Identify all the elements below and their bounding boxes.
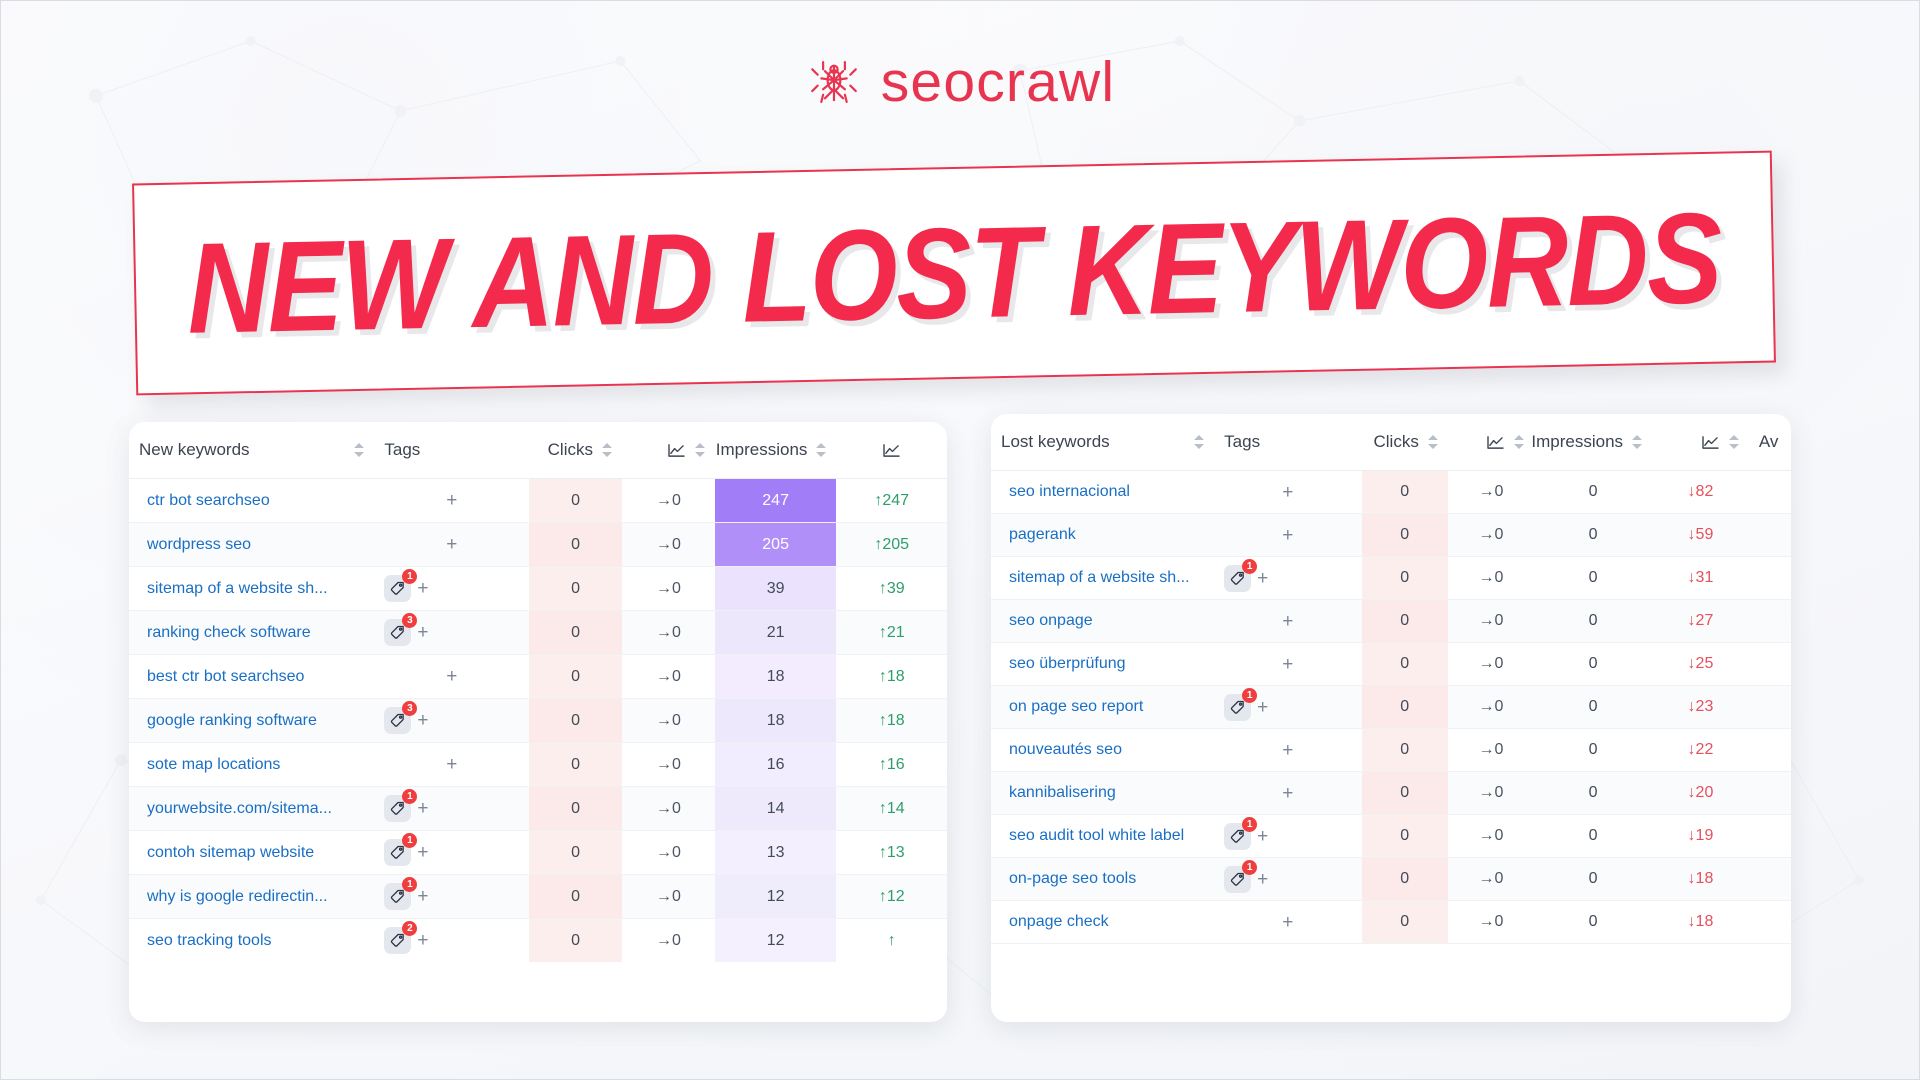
table-row[interactable]: sitemap of a website sh...1+0→039↑39 <box>129 567 947 611</box>
keyword-link[interactable]: yourwebsite.com/sitema... <box>129 787 374 831</box>
impressions-value: 0 <box>1534 514 1652 557</box>
th-lost-next-label: Av <box>1759 432 1779 452</box>
spider-icon <box>805 53 863 111</box>
add-tag-icon[interactable]: + <box>1282 741 1293 760</box>
tag-count-badge: 1 <box>1242 860 1257 875</box>
impressions-heat-cell: 39 <box>715 567 837 610</box>
table-row[interactable]: seo onpage+0→00↓27 <box>991 600 1791 643</box>
tags-cell[interactable]: + <box>374 523 529 567</box>
impressions-delta-value: ↑14 <box>836 787 947 831</box>
clicks-value: 0 <box>1362 729 1448 772</box>
table-row[interactable]: ranking check software3+0→021↑21 <box>129 611 947 655</box>
line-chart-icon <box>882 443 901 458</box>
table-row[interactable]: on page seo report1+0→00↓23 <box>991 686 1791 729</box>
clicks-trend-value: →0 <box>1448 600 1534 643</box>
new-keywords-table-head: New keywords Tags Clicks <box>129 422 947 479</box>
tags-cell[interactable]: 1+ <box>1214 815 1361 858</box>
impressions-value: 18 <box>715 655 837 699</box>
poster-page: seocrawl NEW AND LOST KEYWORDS New keywo… <box>0 0 1920 1080</box>
add-tag-icon[interactable]: + <box>1282 526 1293 545</box>
tag-icon[interactable]: 2 <box>384 927 411 954</box>
th-new-impressions-label: Impressions <box>716 440 808 460</box>
tags-cell[interactable]: 1+ <box>374 875 529 919</box>
impressions-heat-cell: 18 <box>715 655 837 698</box>
add-tag-icon[interactable]: + <box>1282 784 1293 803</box>
lost-keywords-card: Lost keywords Tags Clicks <box>991 414 1791 1022</box>
clicks-value: 0 <box>529 875 622 919</box>
keyword-link[interactable]: seo internacional <box>991 471 1214 514</box>
keyword-link[interactable]: seo überprüfung <box>991 643 1214 686</box>
impressions-value: 0 <box>1534 815 1652 858</box>
th-new-keyword-label: New keywords <box>139 440 250 460</box>
new-keywords-card: New keywords Tags Clicks <box>129 422 947 1022</box>
clicks-trend-value: →0 <box>622 787 715 831</box>
impressions-value: 0 <box>1534 557 1652 600</box>
keyword-link[interactable]: why is google redirectin... <box>129 875 374 919</box>
tags-cell[interactable]: + <box>1214 514 1361 557</box>
impressions-delta-value: ↑18 <box>836 655 947 699</box>
tag-count-badge: 1 <box>1242 688 1257 703</box>
keyword-link[interactable]: wordpress seo <box>129 523 374 567</box>
keyword-link[interactable]: nouveautés seo <box>991 729 1214 772</box>
tag-count-badge: 2 <box>402 921 417 936</box>
next-column-cell <box>1749 643 1791 686</box>
keyword-link[interactable]: on-page seo tools <box>991 858 1214 901</box>
tag-icon[interactable]: 1 <box>384 883 411 910</box>
clicks-trend-value: →0 <box>622 699 715 743</box>
clicks-value: 0 <box>529 611 622 655</box>
clicks-trend-value: →0 <box>1448 557 1534 600</box>
sort-icon[interactable] <box>1514 434 1524 450</box>
tag-icon[interactable]: 3 <box>384 707 411 734</box>
new-keywords-table: New keywords Tags Clicks <box>129 422 947 962</box>
clicks-trend-value: →0 <box>1448 514 1534 557</box>
table-row[interactable]: seo internacional+0→00↓82 <box>991 471 1791 514</box>
next-column-cell <box>1749 514 1791 557</box>
impressions-heat-cell: 16 <box>715 743 837 786</box>
impressions-value: 0 <box>1534 600 1652 643</box>
table-row[interactable]: wordpress seo+0→0205↑205 <box>129 523 947 567</box>
clicks-value: 0 <box>1362 901 1448 944</box>
clicks-value: 0 <box>529 523 622 567</box>
sort-icon[interactable] <box>695 442 705 458</box>
tag-icon[interactable]: 3 <box>384 619 411 646</box>
tag-count-badge: 1 <box>402 833 417 848</box>
tags-cell[interactable]: 1+ <box>374 567 529 611</box>
lost-keywords-table: Lost keywords Tags Clicks <box>991 414 1791 944</box>
th-lost-clicks[interactable]: Clicks <box>1362 414 1448 471</box>
impressions-delta-value: ↓18 <box>1652 858 1749 901</box>
impressions-delta-value: ↑ <box>836 919 947 963</box>
table-row[interactable]: sitemap of a website sh...1+0→00↓31 <box>991 557 1791 600</box>
th-lost-tags[interactable]: Tags <box>1214 414 1361 471</box>
th-lost-next[interactable]: Av <box>1749 414 1791 471</box>
clicks-trend-value: →0 <box>622 875 715 919</box>
impressions-delta-value: ↑18 <box>836 699 947 743</box>
clicks-value: 0 <box>529 919 622 963</box>
tags-cell[interactable]: 2+ <box>374 919 529 963</box>
tag-icon[interactable]: 1 <box>1224 694 1251 721</box>
tag-count-badge: 3 <box>402 613 417 628</box>
line-chart-icon <box>667 443 686 458</box>
impressions-value: 0 <box>1534 471 1652 514</box>
add-tag-icon[interactable]: + <box>446 491 457 510</box>
table-row[interactable]: seo tracking tools2+0→012↑ <box>129 919 947 963</box>
keyword-link[interactable]: on page seo report <box>991 686 1214 729</box>
add-tag-icon[interactable]: + <box>417 931 428 950</box>
add-tag-icon[interactable]: + <box>417 579 428 598</box>
impressions-heat-cell: 205 <box>715 523 837 566</box>
add-tag-icon[interactable]: + <box>1282 612 1293 631</box>
tags-cell[interactable]: 1+ <box>1214 858 1361 901</box>
sort-icon[interactable] <box>1194 434 1204 450</box>
tags-cell[interactable]: + <box>374 479 529 523</box>
tag-icon[interactable]: 1 <box>1224 823 1251 850</box>
clicks-value: 0 <box>1362 600 1448 643</box>
add-tag-icon[interactable]: + <box>446 535 457 554</box>
clicks-trend-value: →0 <box>1448 772 1534 815</box>
tag-count-badge: 1 <box>402 569 417 584</box>
table-row[interactable]: pagerank+0→00↓59 <box>991 514 1791 557</box>
brand-logo: seocrawl <box>1 53 1919 111</box>
clicks-trend-value: →0 <box>622 479 715 523</box>
next-column-cell <box>1749 729 1791 772</box>
keyword-link[interactable]: sitemap of a website sh... <box>129 567 374 611</box>
table-row[interactable]: nouveautés seo+0→00↓22 <box>991 729 1791 772</box>
clicks-value: 0 <box>1362 686 1448 729</box>
impressions-delta-value: ↓27 <box>1652 600 1749 643</box>
impressions-delta-value: ↓82 <box>1652 471 1749 514</box>
th-new-tags[interactable]: Tags <box>374 422 529 479</box>
sort-icon[interactable] <box>1632 434 1642 450</box>
th-new-clicks[interactable]: Clicks <box>529 422 622 479</box>
th-lost-impressions[interactable]: Impressions <box>1534 414 1652 471</box>
table-row[interactable]: on-page seo tools1+0→00↓18 <box>991 858 1791 901</box>
clicks-value: 0 <box>529 787 622 831</box>
impressions-value: 39 <box>715 567 837 611</box>
impressions-value: 0 <box>1534 858 1652 901</box>
keyword-link[interactable]: seo onpage <box>991 600 1214 643</box>
table-row[interactable]: seo audit tool white label1+0→00↓19 <box>991 815 1791 858</box>
th-lost-tags-label: Tags <box>1224 432 1260 452</box>
tags-cell[interactable]: 3+ <box>374 699 529 743</box>
clicks-trend-value: →0 <box>622 567 715 611</box>
sort-icon[interactable] <box>816 442 826 458</box>
next-column-cell <box>1749 471 1791 514</box>
impressions-delta-value: ↑247 <box>836 479 947 523</box>
add-tag-icon[interactable]: + <box>446 667 457 686</box>
keyword-link[interactable]: seo audit tool white label <box>991 815 1214 858</box>
th-new-keyword[interactable]: New keywords <box>129 422 374 479</box>
impressions-delta-value: ↓19 <box>1652 815 1749 858</box>
add-tag-icon[interactable]: + <box>1257 569 1268 588</box>
table-row[interactable]: best ctr bot searchseo+0→018↑18 <box>129 655 947 699</box>
tags-cell[interactable]: + <box>374 655 529 699</box>
new-keywords-table-body: ctr bot searchseo+0→0247↑247wordpress se… <box>129 479 947 963</box>
impressions-delta-value: ↑205 <box>836 523 947 567</box>
tag-icon[interactable]: 1 <box>384 575 411 602</box>
clicks-value: 0 <box>1362 557 1448 600</box>
th-new-tags-label: Tags <box>384 440 420 460</box>
th-lost-keyword[interactable]: Lost keywords <box>991 414 1214 471</box>
tags-cell[interactable]: + <box>1214 772 1361 815</box>
impressions-value: 0 <box>1534 686 1652 729</box>
impressions-delta-value: ↓59 <box>1652 514 1749 557</box>
keyword-link[interactable]: kannibalisering <box>991 772 1214 815</box>
add-tag-icon[interactable]: + <box>417 799 428 818</box>
tags-cell[interactable]: 1+ <box>1214 686 1361 729</box>
tags-cell[interactable]: + <box>1214 729 1361 772</box>
tag-count-badge: 1 <box>402 789 417 804</box>
impressions-delta-value: ↑16 <box>836 743 947 787</box>
tags-cell[interactable]: + <box>1214 643 1361 686</box>
tag-icon[interactable]: 1 <box>1224 565 1251 592</box>
clicks-trend-value: →0 <box>622 655 715 699</box>
clicks-trend-value: →0 <box>622 743 715 787</box>
th-lost-impressions-trend[interactable] <box>1652 414 1749 471</box>
th-new-clicks-trend[interactable] <box>622 422 715 479</box>
clicks-value: 0 <box>1362 643 1448 686</box>
line-chart-icon <box>1701 435 1720 450</box>
lost-keywords-table-body: seo internacional+0→00↓82pagerank+0→00↓5… <box>991 471 1791 944</box>
clicks-value: 0 <box>1362 471 1448 514</box>
sort-icon[interactable] <box>354 442 364 458</box>
clicks-value: 0 <box>529 831 622 875</box>
add-tag-icon[interactable]: + <box>1282 913 1293 932</box>
add-tag-icon[interactable]: + <box>1257 698 1268 717</box>
clicks-trend-value: →0 <box>1448 643 1534 686</box>
lost-keywords-table-head: Lost keywords Tags Clicks <box>991 414 1791 471</box>
table-row[interactable]: kannibalisering+0→00↓20 <box>991 772 1791 815</box>
impressions-value: 12 <box>715 919 837 963</box>
impressions-value: 18 <box>715 699 837 743</box>
tag-icon[interactable]: 1 <box>384 795 411 822</box>
tag-count-badge: 1 <box>1242 559 1257 574</box>
add-tag-icon[interactable]: + <box>417 711 428 730</box>
keyword-link[interactable]: sitemap of a website sh... <box>991 557 1214 600</box>
table-row[interactable]: onpage check+0→00↓18 <box>991 901 1791 944</box>
table-row[interactable]: sote map locations+0→016↑16 <box>129 743 947 787</box>
clicks-trend-value: →0 <box>1448 858 1534 901</box>
clicks-trend-value: →0 <box>1448 686 1534 729</box>
impressions-value: 14 <box>715 787 837 831</box>
sort-icon[interactable] <box>1729 434 1739 450</box>
clicks-trend-value: →0 <box>622 831 715 875</box>
tags-cell[interactable]: 1+ <box>374 787 529 831</box>
keyword-link[interactable]: ctr bot searchseo <box>129 479 374 523</box>
keyword-link[interactable]: contoh sitemap website <box>129 831 374 875</box>
th-lost-keyword-label: Lost keywords <box>1001 432 1110 452</box>
next-column-cell <box>1749 557 1791 600</box>
tag-icon[interactable]: 1 <box>384 839 411 866</box>
impressions-heat-cell: 18 <box>715 699 837 742</box>
sort-icon[interactable] <box>1428 434 1438 450</box>
tag-icon[interactable]: 1 <box>1224 866 1251 893</box>
tag-count-badge: 1 <box>402 877 417 892</box>
th-lost-clicks-trend[interactable] <box>1448 414 1534 471</box>
brand-name: seocrawl <box>881 54 1116 111</box>
impressions-heat-cell: 13 <box>715 831 837 874</box>
impressions-delta-value: ↑39 <box>836 567 947 611</box>
impressions-value: 16 <box>715 743 837 787</box>
impressions-value: 13 <box>715 831 837 875</box>
impressions-value: 0 <box>1534 729 1652 772</box>
clicks-value: 0 <box>529 655 622 699</box>
tag-count-badge: 1 <box>1242 817 1257 832</box>
keyword-link[interactable]: ranking check software <box>129 611 374 655</box>
tags-cell[interactable]: + <box>1214 901 1361 944</box>
impressions-value: 0 <box>1534 772 1652 815</box>
keyword-link[interactable]: onpage check <box>991 901 1214 944</box>
line-chart-icon <box>1486 435 1505 450</box>
tags-cell[interactable]: + <box>374 743 529 787</box>
add-tag-icon[interactable]: + <box>446 755 457 774</box>
add-tag-icon[interactable]: + <box>417 623 428 642</box>
banner-title: NEW AND LOST KEYWORDS <box>186 184 1722 363</box>
impressions-delta-value: ↓23 <box>1652 686 1749 729</box>
impressions-delta-value: ↑12 <box>836 875 947 919</box>
table-row[interactable]: why is google redirectin...1+0→012↑12 <box>129 875 947 919</box>
clicks-trend-value: →0 <box>1448 471 1534 514</box>
keyword-link[interactable]: seo tracking tools <box>129 919 374 963</box>
next-column-cell <box>1749 901 1791 944</box>
clicks-value: 0 <box>529 479 622 523</box>
clicks-value: 0 <box>529 743 622 787</box>
impressions-delta-value: ↓18 <box>1652 901 1749 944</box>
next-column-cell <box>1749 772 1791 815</box>
table-row[interactable]: yourwebsite.com/sitema...1+0→014↑14 <box>129 787 947 831</box>
th-new-impressions-trend[interactable] <box>836 422 947 479</box>
impressions-delta-value: ↑13 <box>836 831 947 875</box>
table-row[interactable]: ctr bot searchseo+0→0247↑247 <box>129 479 947 523</box>
impressions-delta-value: ↓20 <box>1652 772 1749 815</box>
keyword-link[interactable]: best ctr bot searchseo <box>129 655 374 699</box>
impressions-delta-value: ↑21 <box>836 611 947 655</box>
table-row[interactable]: google ranking software3+0→018↑18 <box>129 699 947 743</box>
sort-icon[interactable] <box>602 442 612 458</box>
next-column-cell <box>1749 686 1791 729</box>
table-row[interactable]: contoh sitemap website1+0→013↑13 <box>129 831 947 875</box>
impressions-value: 205 <box>715 523 837 567</box>
th-new-clicks-label: Clicks <box>548 440 593 460</box>
th-lost-impressions-label: Impressions <box>1531 432 1623 452</box>
impressions-delta-value: ↓25 <box>1652 643 1749 686</box>
impressions-heat-cell: 12 <box>715 875 837 918</box>
add-tag-icon[interactable]: + <box>1282 483 1293 502</box>
tag-count-badge: 3 <box>402 701 417 716</box>
th-new-impressions[interactable]: Impressions <box>715 422 837 479</box>
clicks-trend-value: →0 <box>1448 729 1534 772</box>
impressions-heat-cell: 12 <box>715 919 837 962</box>
clicks-value: 0 <box>1362 514 1448 557</box>
add-tag-icon[interactable]: + <box>1257 870 1268 889</box>
keyword-link[interactable]: google ranking software <box>129 699 374 743</box>
add-tag-icon[interactable]: + <box>417 843 428 862</box>
clicks-trend-value: →0 <box>622 523 715 567</box>
tags-cell[interactable]: 3+ <box>374 611 529 655</box>
tags-cell[interactable]: + <box>1214 600 1361 643</box>
add-tag-icon[interactable]: + <box>417 887 428 906</box>
next-column-cell <box>1749 858 1791 901</box>
clicks-trend-value: →0 <box>622 919 715 963</box>
impressions-value: 12 <box>715 875 837 919</box>
clicks-value: 0 <box>1362 815 1448 858</box>
clicks-value: 0 <box>529 699 622 743</box>
keyword-link[interactable]: pagerank <box>991 514 1214 557</box>
impressions-heat-cell: 247 <box>715 479 837 522</box>
clicks-trend-value: →0 <box>622 611 715 655</box>
next-column-cell <box>1749 600 1791 643</box>
clicks-trend-value: →0 <box>1448 901 1534 944</box>
keyword-link[interactable]: sote map locations <box>129 743 374 787</box>
th-lost-clicks-label: Clicks <box>1373 432 1418 452</box>
clicks-value: 0 <box>1362 772 1448 815</box>
impressions-value: 247 <box>715 479 837 523</box>
tags-cell[interactable]: + <box>1214 471 1361 514</box>
table-row[interactable]: seo überprüfung+0→00↓25 <box>991 643 1791 686</box>
impressions-heat-cell: 14 <box>715 787 837 830</box>
impressions-value: 21 <box>715 611 837 655</box>
banner: NEW AND LOST KEYWORDS <box>132 151 1776 396</box>
next-column-cell <box>1749 815 1791 858</box>
tags-cell[interactable]: 1+ <box>1214 557 1361 600</box>
impressions-value: 0 <box>1534 643 1652 686</box>
clicks-trend-value: →0 <box>1448 815 1534 858</box>
tags-cell[interactable]: 1+ <box>374 831 529 875</box>
impressions-delta-value: ↓31 <box>1652 557 1749 600</box>
impressions-value: 0 <box>1534 901 1652 944</box>
impressions-delta-value: ↓22 <box>1652 729 1749 772</box>
add-tag-icon[interactable]: + <box>1282 655 1293 674</box>
clicks-value: 0 <box>1362 858 1448 901</box>
impressions-heat-cell: 21 <box>715 611 837 654</box>
clicks-value: 0 <box>529 567 622 611</box>
add-tag-icon[interactable]: + <box>1257 827 1268 846</box>
